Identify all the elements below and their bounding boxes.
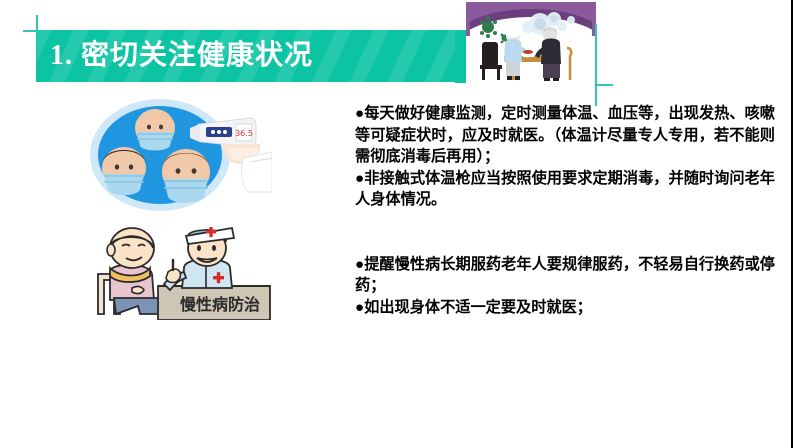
slide-canvas: 1. 密切关注健康状况	[0, 0, 793, 448]
bullet-paragraph-3: ●提醒慢性病长期服药老年人要规律服药，不轻易自行换药或停药；	[355, 254, 775, 297]
chronic-disease-prevention-cartoon: 慢性病防治	[80, 222, 278, 320]
masked-faces-thermometer-illustration: 36.5	[82, 96, 272, 214]
right-bracket-horizontal-icon	[595, 84, 613, 86]
bullet-paragraph-4: ●如出现身体不适一定要及时就医；	[355, 297, 775, 319]
svg-text:36.5: 36.5	[235, 129, 253, 138]
doctor-consultation-illustration	[466, 2, 596, 84]
bullet-paragraph-2: ●非接触式体温枪应当按照使用要求定期消毒，并随时询问老年人身体情况。	[355, 168, 775, 211]
paragraph-spacer	[355, 211, 775, 254]
title-banner: 1. 密切关注健康状况	[36, 30, 468, 82]
page-title: 1. 密切关注健康状况	[36, 42, 313, 70]
cartoon-caption: 慢性病防治	[180, 295, 260, 314]
body-text-block: ●每天做好健康监测，定时测量体温、血压等，出现发热、咳嗽等可疑症状时，应及时就医…	[355, 103, 775, 318]
right-bracket-vertical-icon	[595, 24, 597, 106]
bullet-paragraph-1: ●每天做好健康监测，定时测量体温、血压等，出现发热、咳嗽等可疑症状时，应及时就医…	[355, 103, 775, 168]
